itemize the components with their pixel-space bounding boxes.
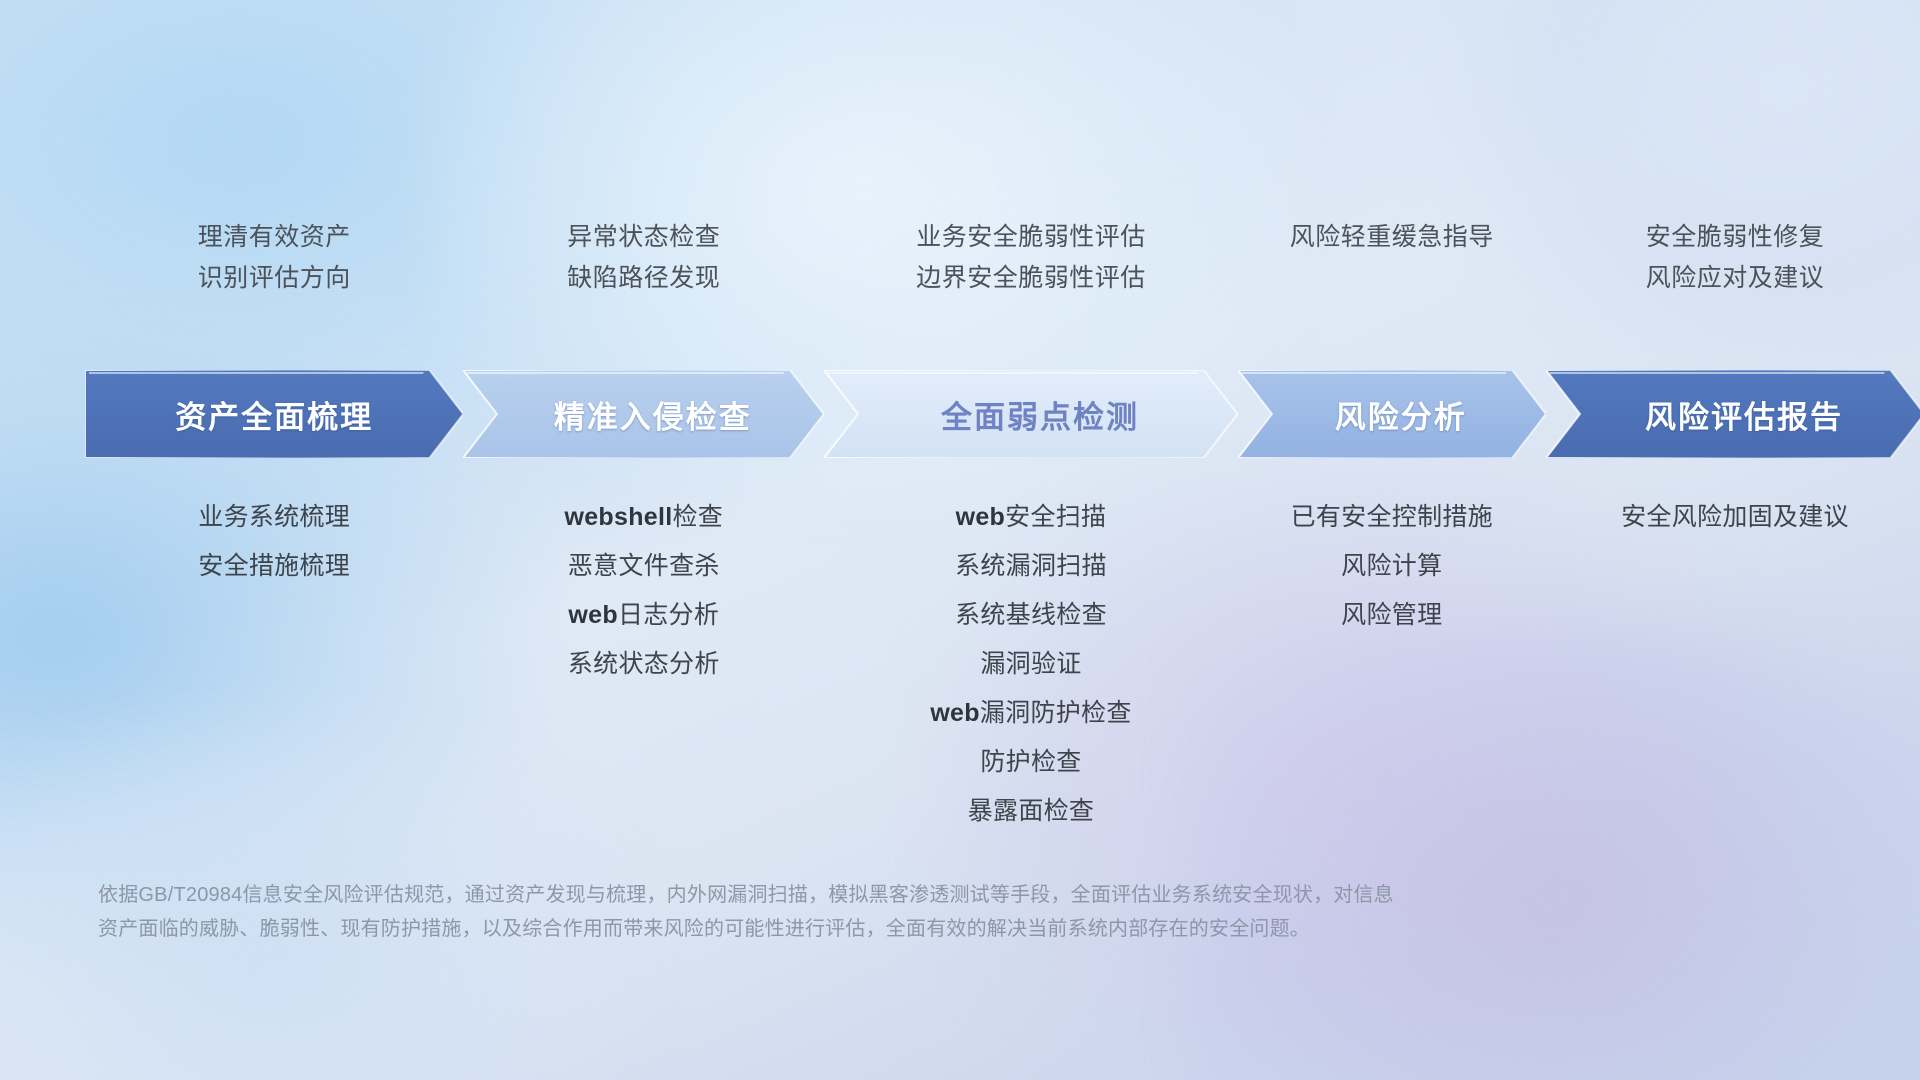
activity-item: 系统漏洞扫描	[955, 554, 1107, 579]
activity-text: 风险计算	[1341, 552, 1442, 580]
activity-item: 已有安全控制措施	[1291, 505, 1493, 530]
activity-text: 安全措施梳理	[198, 552, 350, 580]
chevron-intrusion-check[interactable]: 精准入侵检查	[463, 370, 824, 458]
bottom-activities-asset-inventory: 业务系统梳理安全措施梳理	[85, 505, 463, 824]
activity-text: 业务系统梳理	[198, 503, 350, 531]
chevron-label-weakness-detection: 全面弱点检测	[941, 392, 1139, 437]
activity-item: 漏洞验证	[980, 652, 1081, 677]
activity-item: 恶意文件查杀	[568, 554, 720, 579]
activity-text: 安全扫描	[1005, 503, 1106, 531]
activity-item: web安全扫描	[956, 505, 1107, 530]
top-outcomes-weakness-detection: 业务安全脆弱性评估边界安全脆弱性评估	[824, 225, 1238, 335]
top-outcome-item: 安全脆弱性修复	[1646, 225, 1825, 250]
activity-text: 漏洞验证	[980, 650, 1081, 678]
top-outcomes-risk-analysis: 风险轻重缓急指导	[1238, 225, 1546, 335]
activity-item: 安全措施梳理	[198, 554, 350, 579]
bottom-activities-row: 业务系统梳理安全措施梳理webshell检查恶意文件查杀web日志分析系统状态分…	[85, 505, 1845, 824]
bottom-activities-intrusion-check: webshell检查恶意文件查杀web日志分析系统状态分析	[463, 505, 824, 824]
top-outcomes-row: 理清有效资产识别评估方向异常状态检查缺陷路径发现业务安全脆弱性评估边界安全脆弱性…	[85, 225, 1845, 335]
activity-text: 系统状态分析	[568, 650, 720, 678]
activity-text: 安全风险加固及建议	[1621, 503, 1849, 531]
activity-item: 防护检查	[980, 750, 1081, 775]
chevron-risk-analysis[interactable]: 风险分析	[1238, 370, 1546, 458]
top-outcomes-risk-report: 安全脆弱性修复风险应对及建议	[1546, 225, 1920, 335]
activity-text: 漏洞防护检查	[980, 699, 1132, 727]
top-outcomes-asset-inventory: 理清有效资产识别评估方向	[85, 225, 463, 335]
activity-item: 安全风险加固及建议	[1621, 505, 1849, 530]
top-outcome-item: 边界安全脆弱性评估	[916, 266, 1146, 291]
activity-item: web漏洞防护检查	[930, 701, 1131, 726]
activity-keyword: webshell	[564, 503, 672, 531]
activity-keyword: web	[956, 503, 1006, 531]
activity-item: webshell检查	[564, 505, 723, 530]
bottom-activities-weakness-detection: web安全扫描系统漏洞扫描系统基线检查漏洞验证web漏洞防护检查防护检查暴露面检…	[824, 505, 1238, 824]
activity-item: 风险计算	[1341, 554, 1442, 579]
chevron-asset-inventory[interactable]: 资产全面梳理	[85, 370, 463, 458]
chevron-weakness-detection[interactable]: 全面弱点检测	[824, 370, 1238, 458]
activity-item: web日志分析	[568, 603, 719, 628]
top-outcome-item: 缺陷路径发现	[567, 266, 720, 291]
activity-text: 防护检查	[980, 748, 1081, 776]
top-outcome-item: 理清有效资产	[198, 225, 351, 250]
activity-item: 业务系统梳理	[198, 505, 350, 530]
activity-item: 系统状态分析	[568, 652, 720, 677]
activity-keyword: web	[930, 699, 980, 727]
top-outcome-item: 风险轻重缓急指导	[1290, 225, 1494, 250]
footer-line-1: 依据GB/T20984信息安全风险评估规范，通过资产发现与梳理，内外网漏洞扫描，…	[98, 878, 1618, 912]
bottom-activities-risk-report: 安全风险加固及建议	[1546, 505, 1920, 824]
chevron-label-asset-inventory: 资产全面梳理	[175, 392, 373, 437]
activity-text: 已有安全控制措施	[1291, 503, 1493, 531]
chevron-risk-report[interactable]: 风险评估报告	[1546, 370, 1920, 458]
activity-keyword: web	[568, 601, 618, 629]
activity-text: 系统漏洞扫描	[955, 552, 1107, 580]
top-outcome-item: 识别评估方向	[198, 266, 351, 291]
chevron-label-risk-report: 风险评估报告	[1645, 392, 1843, 437]
chevron-label-risk-analysis: 风险分析	[1335, 392, 1467, 437]
top-outcome-item: 异常状态检查	[567, 225, 720, 250]
footer-description: 依据GB/T20984信息安全风险评估规范，通过资产发现与梳理，内外网漏洞扫描，…	[98, 878, 1618, 946]
activity-item: 系统基线检查	[955, 603, 1107, 628]
activity-text: 系统基线检查	[955, 601, 1107, 629]
top-outcome-item: 业务安全脆弱性评估	[916, 225, 1146, 250]
top-outcomes-intrusion-check: 异常状态检查缺陷路径发现	[463, 225, 824, 335]
diagram-stage: 理清有效资产识别评估方向异常状态检查缺陷路径发现业务安全脆弱性评估边界安全脆弱性…	[0, 0, 1920, 1080]
activity-text: 日志分析	[618, 601, 719, 629]
top-outcome-item: 风险应对及建议	[1646, 266, 1825, 291]
activity-item: 风险管理	[1341, 603, 1442, 628]
activity-item: 暴露面检查	[968, 799, 1095, 824]
footer-line-2: 资产面临的威胁、脆弱性、现有防护措施，以及综合作用而带来风险的可能性进行评估，全…	[98, 912, 1618, 946]
activity-text: 暴露面检查	[968, 797, 1095, 825]
activity-text: 风险管理	[1341, 601, 1442, 629]
activity-text: 恶意文件查杀	[568, 552, 720, 580]
process-chevron-banner: 资产全面梳理 精准入侵检查	[85, 370, 1845, 458]
chevron-label-intrusion-check: 精准入侵检查	[554, 392, 752, 437]
bottom-activities-risk-analysis: 已有安全控制措施风险计算风险管理	[1238, 505, 1546, 824]
activity-text: 检查	[672, 503, 723, 531]
